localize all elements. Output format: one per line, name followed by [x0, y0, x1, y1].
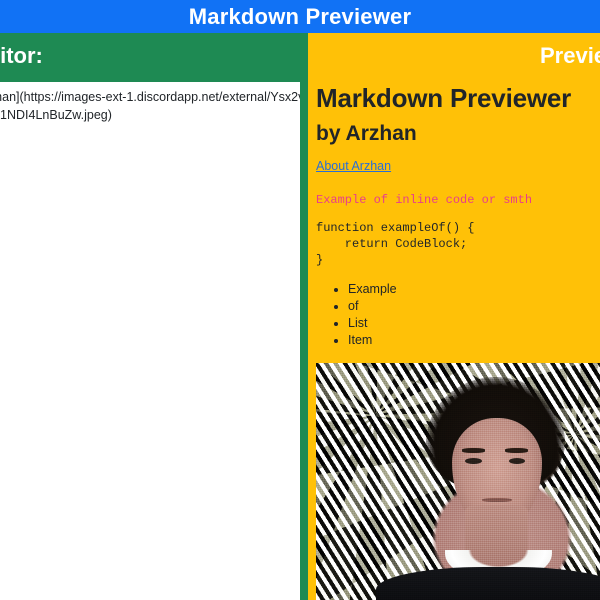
photo-eye-left — [465, 458, 482, 464]
editor-label: Editor: — [0, 43, 43, 69]
about-arzhan-link[interactable]: About Arzhan — [316, 159, 391, 173]
list-item: Example — [348, 281, 600, 298]
preview-heading-2: by Arzhan — [316, 121, 600, 147]
preview-list: Example of List Item — [316, 281, 600, 349]
photo-shirt — [376, 567, 600, 600]
preview-link-row: About Arzhan — [316, 157, 600, 175]
code-block: function exampleOf() { return CodeBlock;… — [316, 220, 600, 268]
list-item: Item — [348, 332, 600, 349]
inline-code: Example of inline code or smth — [316, 193, 532, 207]
preview-heading-1: Markdown Previewer — [316, 82, 600, 115]
preview-image — [316, 363, 600, 600]
app-header: Markdown Previewer — [0, 0, 600, 33]
page-title: Markdown Previewer — [189, 6, 411, 28]
markdown-editor-input[interactable] — [0, 82, 300, 600]
markdown-previewer-app: Markdown Previewer Editor: Previewer: Ma… — [0, 0, 600, 600]
photo-eyebrow-left — [462, 448, 485, 452]
list-item: List — [348, 315, 600, 332]
photo-eyebrow-right — [505, 448, 528, 452]
preview-label: Previewer: — [540, 43, 600, 69]
preview-inline-code-row: Example of inline code or smth — [316, 190, 600, 209]
list-item: of — [348, 298, 600, 315]
markdown-preview-output: Markdown Previewer by Arzhan About Arzha… — [316, 82, 600, 379]
preview-panel: Previewer: Markdown Previewer by Arzhan … — [308, 33, 600, 600]
portrait-photo — [316, 363, 600, 600]
photo-eye-right — [509, 458, 526, 464]
editor-panel: Editor: — [0, 33, 308, 600]
